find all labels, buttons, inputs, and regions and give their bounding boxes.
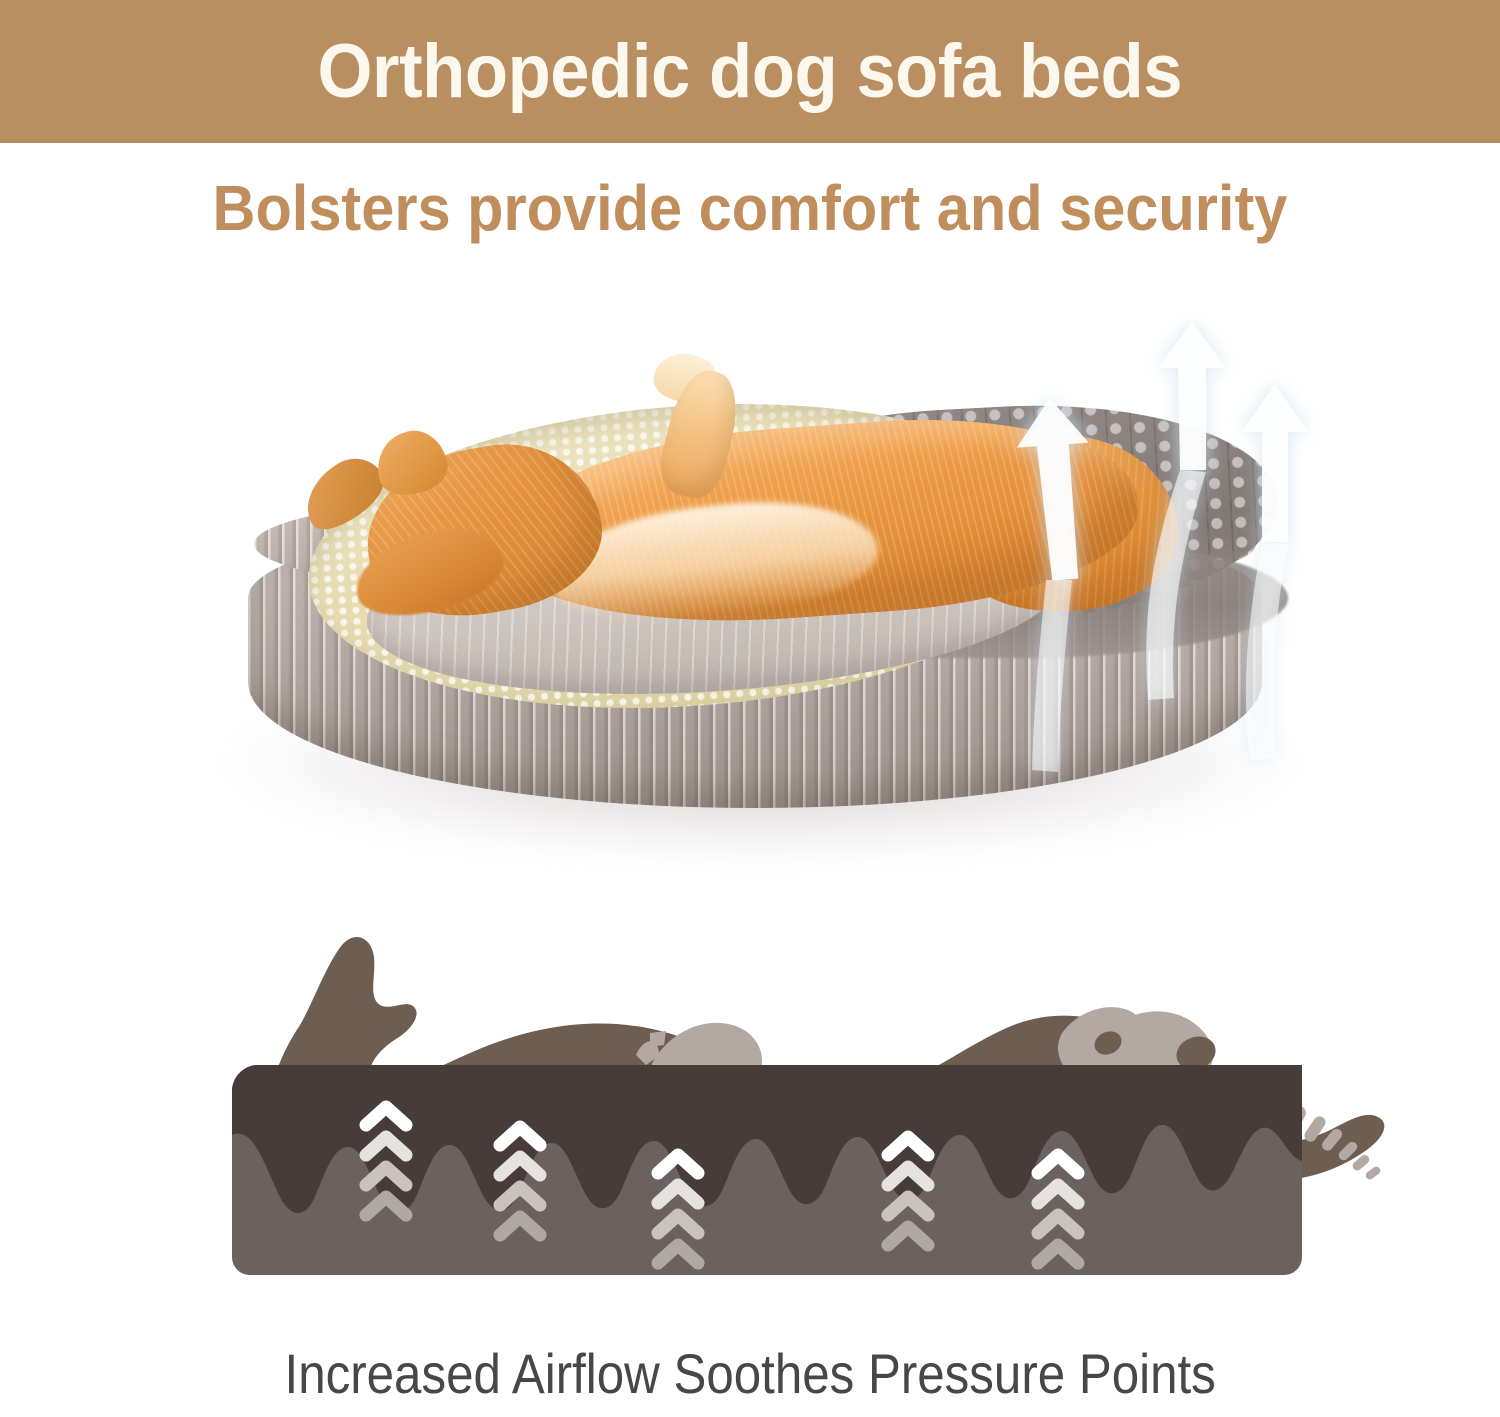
dog-bed bbox=[248, 388, 1262, 818]
header-banner: Orthopedic dog sofa beds bbox=[0, 0, 1500, 143]
page-title: Orthopedic dog sofa beds bbox=[318, 34, 1183, 110]
product-photo bbox=[0, 280, 1500, 900]
subheading-row: Bolsters provide comfort and security bbox=[0, 160, 1500, 255]
foam-cross-section-diagram bbox=[0, 905, 1500, 1305]
subheading-text: Bolsters provide comfort and security bbox=[213, 176, 1288, 240]
dog-photo-subject bbox=[248, 388, 1262, 818]
caption-text: Increased Airflow Soothes Pressure Point… bbox=[284, 1346, 1215, 1402]
diagram-svg bbox=[0, 905, 1500, 1305]
caption-row: Increased Airflow Soothes Pressure Point… bbox=[0, 1330, 1500, 1417]
